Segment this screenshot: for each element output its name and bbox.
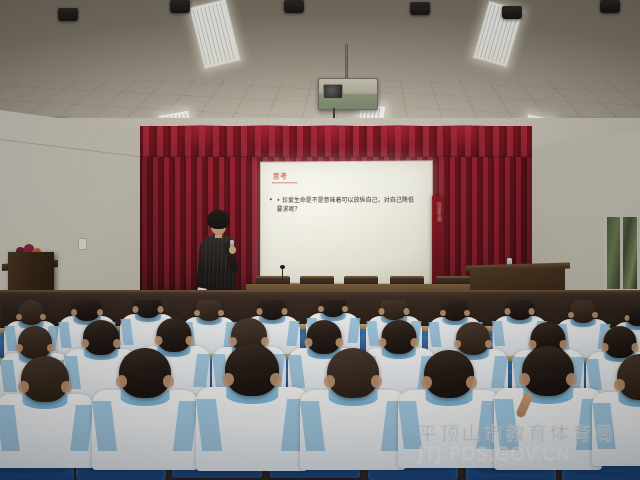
audience-member <box>196 344 308 480</box>
projector-mount-rod <box>345 44 348 82</box>
side-window <box>604 214 640 292</box>
ear <box>81 339 89 348</box>
ear <box>410 338 418 347</box>
student-head <box>381 300 408 320</box>
student-head <box>18 326 52 359</box>
presenter-hair <box>207 210 230 229</box>
ear <box>403 308 409 315</box>
ear <box>379 308 385 315</box>
slide-bullet-marker <box>270 198 272 200</box>
student-head <box>626 302 640 326</box>
ear <box>342 306 348 312</box>
student-head <box>522 346 574 396</box>
wall-switch[interactable] <box>78 238 87 250</box>
curtain-swag <box>310 125 354 151</box>
uniform-shoulder-stripe <box>494 399 520 450</box>
presenter-hand <box>229 246 236 254</box>
ear <box>614 379 625 391</box>
ear <box>485 340 492 348</box>
ear <box>631 343 638 351</box>
slide-body-text: • 珍爱生命是不是意味着可以放纵自己，对自己降低要求呢？ <box>277 196 419 214</box>
ceiling-speaker-icon <box>284 0 304 13</box>
student-uniform-torso <box>494 388 602 470</box>
ear <box>270 373 282 386</box>
student-uniform-torso <box>0 394 94 468</box>
projector-lens-icon <box>323 84 343 99</box>
audience-member <box>0 356 94 478</box>
student-head <box>327 348 379 398</box>
ceiling-projector-icon <box>318 78 378 110</box>
slide-title: 思考 <box>273 171 288 181</box>
ear <box>257 308 263 315</box>
student-uniform-torso <box>92 390 198 470</box>
ear <box>71 309 77 316</box>
ear <box>519 373 530 386</box>
banner-text: 珍爱生命 <box>433 202 442 222</box>
student-head <box>604 326 637 358</box>
curtain-swag <box>376 125 420 151</box>
ear <box>116 375 127 388</box>
ear <box>186 336 194 345</box>
curtain-swag <box>178 125 222 151</box>
ear <box>40 314 46 320</box>
ear <box>113 339 121 348</box>
uniform-shoulder-stripe <box>196 399 223 451</box>
table-microphone-icon <box>282 268 283 284</box>
student-head <box>424 350 474 398</box>
audience-member <box>592 354 640 476</box>
uniform-shoulder-stripe <box>592 403 615 449</box>
auditorium-photo: 思考 • 珍爱生命是不是意味着可以放纵自己，对自己降低要求呢？ 珍爱生命 <box>0 0 640 480</box>
ceiling-speaker-icon <box>600 0 620 13</box>
ceiling-speaker-icon <box>502 6 522 19</box>
curtain-swag <box>442 125 486 151</box>
student-head <box>18 300 44 325</box>
ear <box>336 338 344 347</box>
window-mullion <box>620 217 623 289</box>
audience-member <box>398 350 500 478</box>
ear <box>568 312 574 318</box>
ear <box>16 344 23 352</box>
slide-title-underline <box>272 182 298 183</box>
ceiling-speaker-icon <box>58 8 78 21</box>
audience-area <box>0 300 640 480</box>
student-uniform-torso <box>300 390 406 470</box>
ear <box>157 306 163 313</box>
ear <box>566 373 577 386</box>
ear <box>454 340 461 348</box>
ceiling-speaker-icon <box>410 2 430 15</box>
uniform-shoulder-stripe <box>0 405 19 451</box>
student-head <box>73 300 101 321</box>
uniform-shoulder-stripe <box>300 401 325 451</box>
student-head <box>570 300 596 323</box>
ear <box>440 310 446 316</box>
ceiling-speaker-icon <box>170 0 190 13</box>
ear <box>504 308 510 315</box>
student-head <box>442 300 468 321</box>
ear <box>602 343 609 351</box>
student-uniform-torso <box>196 387 308 471</box>
student-uniform-torso <box>592 392 640 466</box>
curtain-swag <box>244 125 288 151</box>
ear <box>281 308 287 315</box>
student-head <box>21 356 69 402</box>
audience-member <box>300 348 406 480</box>
ear <box>47 344 54 352</box>
audience-member <box>494 346 602 480</box>
student-head <box>225 344 279 396</box>
ear <box>379 338 387 347</box>
student-head <box>157 318 192 352</box>
student-head <box>119 348 171 398</box>
ear <box>218 310 224 316</box>
ear <box>154 336 162 345</box>
uniform-shoulder-stripe <box>71 405 94 451</box>
ear <box>163 375 174 388</box>
ear <box>529 308 535 315</box>
ear <box>222 373 234 386</box>
projection-screen: 思考 • 珍爱生命是不是意味着可以放纵自己，对自己降低要求呢？ <box>260 160 433 284</box>
ear <box>194 310 200 316</box>
audience-member <box>92 348 198 480</box>
uniform-shoulder-stripe <box>173 401 198 451</box>
student-uniform-torso <box>398 390 500 468</box>
ear <box>371 375 382 388</box>
ear <box>421 376 432 388</box>
ear <box>16 314 22 320</box>
ear <box>18 381 29 393</box>
ear <box>324 375 335 388</box>
student-head <box>506 300 533 320</box>
ear <box>97 309 103 316</box>
uniform-shoulder-stripe <box>398 401 422 449</box>
ear <box>318 306 324 312</box>
ear <box>133 306 139 313</box>
ear <box>624 315 630 321</box>
ear <box>592 312 598 318</box>
student-head <box>259 300 286 320</box>
ear <box>464 310 470 316</box>
uniform-shoulder-stripe <box>92 401 117 451</box>
ear <box>61 381 72 393</box>
ear <box>466 376 477 388</box>
